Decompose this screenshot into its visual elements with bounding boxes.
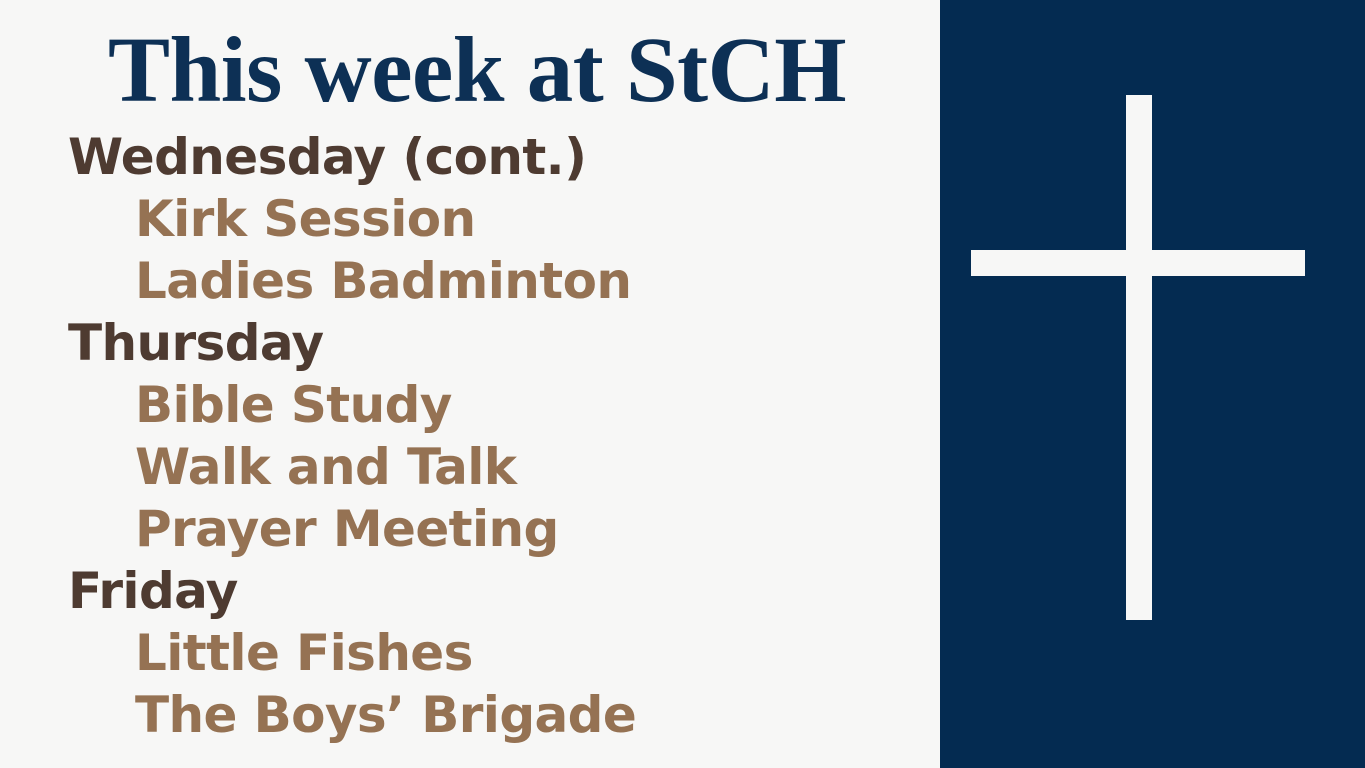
event-list: Little FishesThe Boys’ Brigade — [0, 622, 940, 746]
day-heading: Thursday — [0, 312, 940, 374]
event-item: Kirk Session — [0, 188, 940, 250]
event-item: Bible Study — [0, 374, 940, 436]
day-block: Wednesday (cont.)Kirk SessionLadies Badm… — [0, 126, 940, 312]
event-item: Ladies Badminton — [0, 250, 940, 312]
event-item: The Boys’ Brigade — [0, 684, 940, 746]
event-item: Walk and Talk — [0, 436, 940, 498]
page-title: This week at StCH — [108, 24, 846, 117]
day-block: FridayLittle FishesThe Boys’ Brigade — [0, 560, 940, 746]
day-block: ThursdayBible StudyWalk and TalkPrayer M… — [0, 312, 940, 560]
presentation-slide: This week at StCH Wednesday (cont.)Kirk … — [0, 0, 1365, 768]
cross-panel — [940, 0, 1365, 768]
cross-icon — [940, 0, 1365, 768]
event-list: Bible StudyWalk and TalkPrayer Meeting — [0, 374, 940, 560]
cross-horizontal-bar — [971, 250, 1305, 276]
slide-content-column: This week at StCH Wednesday (cont.)Kirk … — [0, 0, 940, 768]
event-item: Prayer Meeting — [0, 498, 940, 560]
day-heading: Wednesday (cont.) — [0, 126, 940, 188]
day-heading: Friday — [0, 560, 940, 622]
weekly-schedule-list: Wednesday (cont.)Kirk SessionLadies Badm… — [0, 126, 940, 746]
cross-vertical-bar — [1126, 95, 1152, 620]
event-item: Little Fishes — [0, 622, 940, 684]
event-list: Kirk SessionLadies Badminton — [0, 188, 940, 312]
